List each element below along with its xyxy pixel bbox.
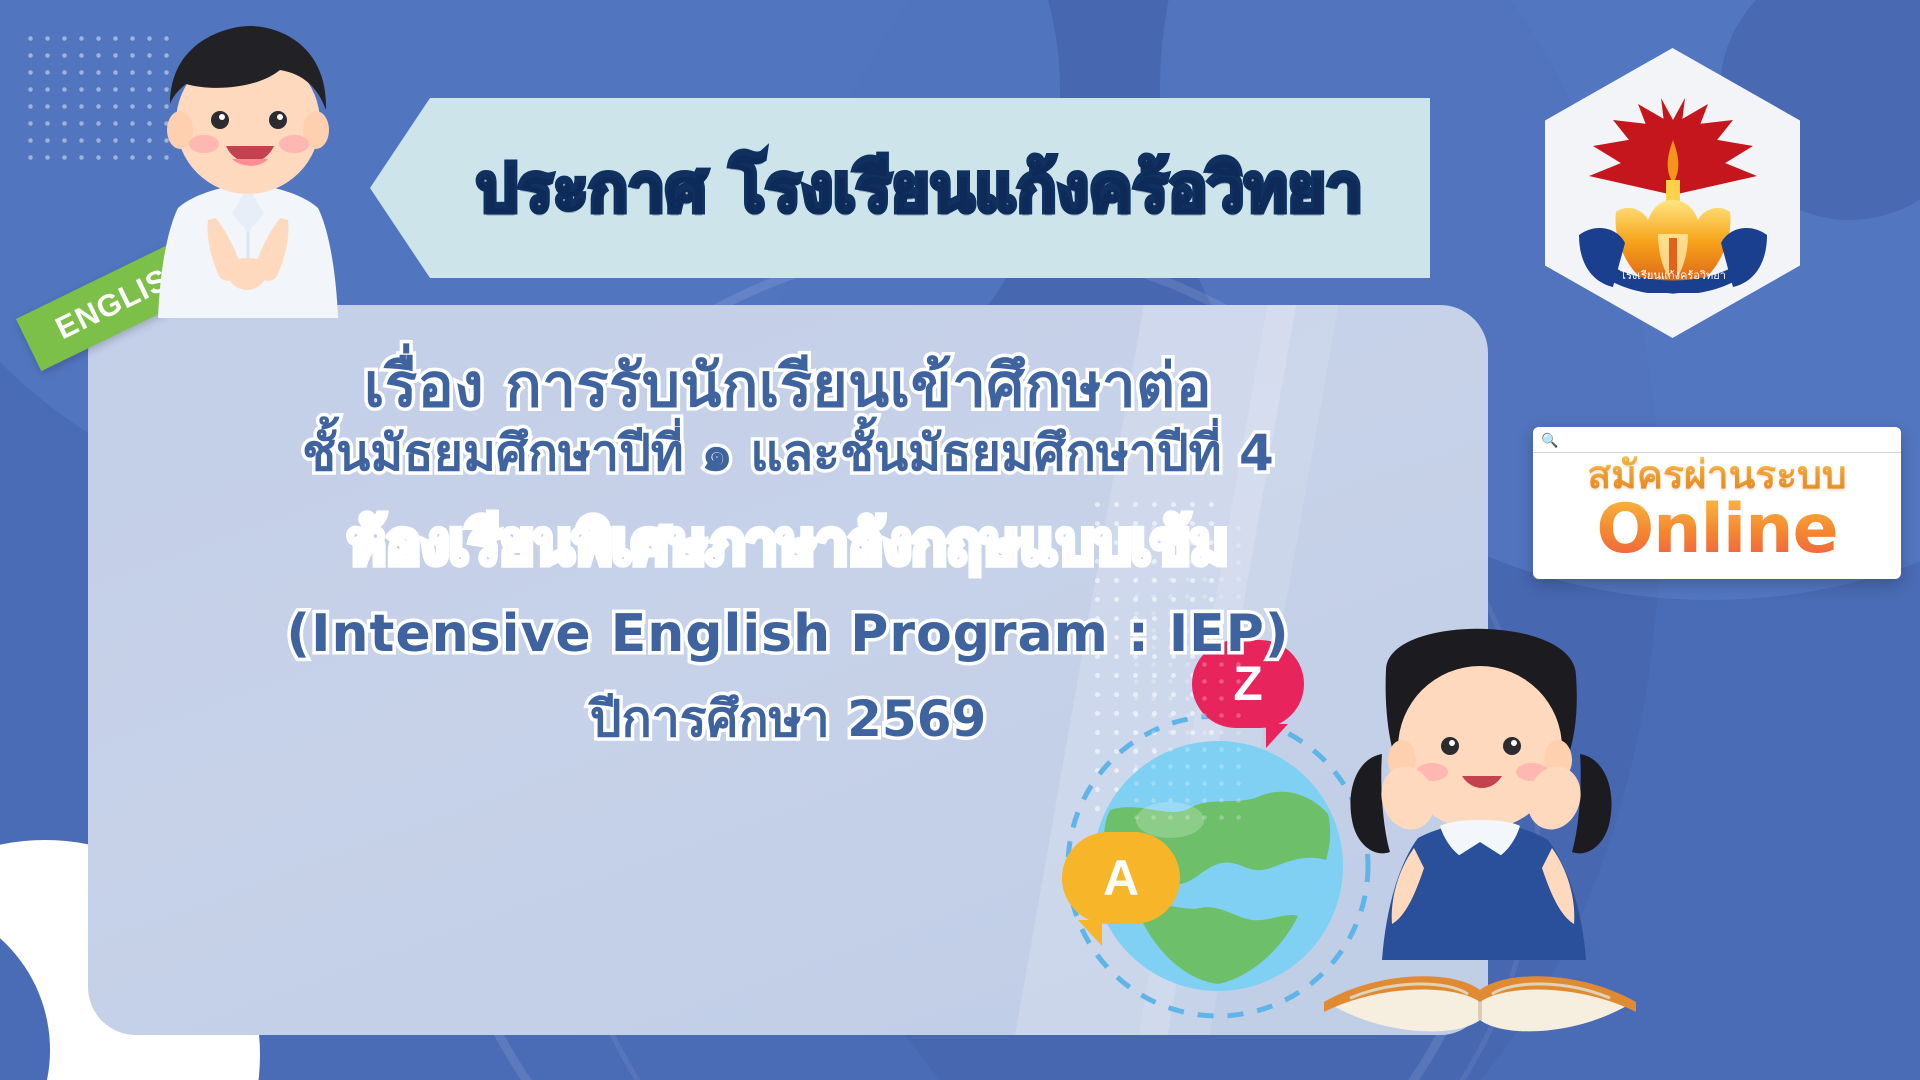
speech-bubble-a-letter: A bbox=[1103, 849, 1139, 907]
online-label-english: Online bbox=[1533, 497, 1901, 564]
online-application-card[interactable]: 🔍 สมัครผ่านระบบ Online bbox=[1533, 427, 1901, 579]
page-title: ประกาศ โรงเรียนแก้งคร้อวิทยา bbox=[437, 137, 1364, 239]
academic-year: ปีการศึกษา 2569 bbox=[88, 690, 1488, 749]
program-name-thai: ห้องเรียนพิเศษภาษาอังกฤษแบบเข้ม bbox=[88, 509, 1488, 579]
poster-canvas: ประกาศ โรงเรียนแก้งคร้อวิทยา bbox=[0, 0, 1920, 1080]
program-name-english: (Intensive English Program : IEP) bbox=[88, 604, 1488, 665]
logo-ribbon-icon: โรงเรียนแก้งคร้อวิทยา bbox=[1573, 217, 1773, 293]
announcement-levels: ชั้นมัธยมศึกษาปีที่ ๑ และชั้นมัธยมศึกษาป… bbox=[88, 424, 1488, 483]
speech-bubble-a: A bbox=[1062, 832, 1180, 924]
search-icon: 🔍 bbox=[1541, 433, 1558, 447]
svg-text:โรงเรียนแก้งคร้อวิทยา: โรงเรียนแก้งคร้อวิทยา bbox=[1620, 268, 1726, 282]
header-banner: ประกาศ โรงเรียนแก้งคร้อวิทยา bbox=[370, 98, 1430, 278]
browser-search-bar[interactable]: 🔍 bbox=[1533, 427, 1901, 453]
announcement-subject: เรื่อง การรับนักเรียนเข้าศึกษาต่อ bbox=[88, 351, 1488, 422]
boy-student-illustration bbox=[108, 18, 388, 328]
